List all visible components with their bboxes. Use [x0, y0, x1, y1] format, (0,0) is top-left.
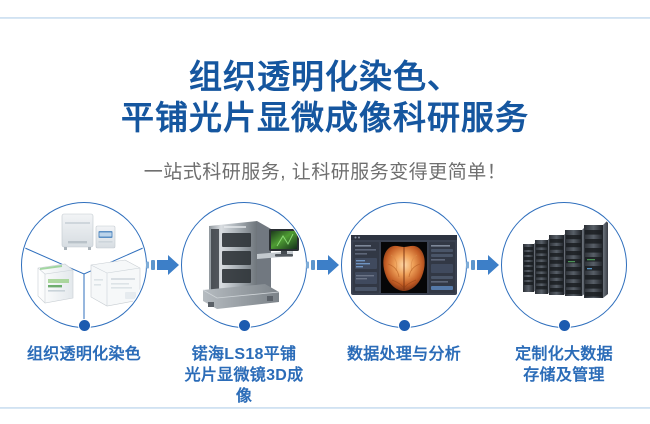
- flow-step-4-node-dot: [559, 320, 570, 331]
- top-divider: [0, 17, 650, 19]
- flow-step-1-circle: [21, 202, 147, 328]
- flow-step-1-label: 组织透明化染色: [17, 344, 151, 365]
- flow-step-2[interactable]: 锘海LS18平铺 光片显微镜3D成像: [177, 202, 311, 382]
- flow-step-1-ring: [21, 202, 147, 328]
- flow-step-3[interactable]: 数据处理与分析: [337, 202, 471, 382]
- flow-step-3-label: 数据处理与分析: [337, 344, 471, 365]
- page-title: 组织透明化染色、 平铺光片显微成像科研服务: [0, 56, 650, 138]
- flow-step-2-node-dot: [239, 320, 250, 331]
- flow-step-4-circle: [501, 202, 627, 328]
- flow-step-4[interactable]: 定制化大数据 存储及管理: [497, 202, 631, 382]
- flow-step-4-ring: [501, 202, 627, 328]
- flow-step-1[interactable]: 组织透明化染色: [17, 202, 151, 382]
- right-arrow-icon: [466, 254, 500, 276]
- process-flow: 组织透明化染色: [0, 202, 650, 382]
- flow-step-2-ring: [181, 202, 307, 328]
- promo-banner: 组织透明化染色、 平铺光片显微成像科研服务 一站式科研服务, 让科研服务变得更简…: [0, 0, 650, 424]
- right-arrow-icon: [146, 254, 180, 276]
- title-line-2: 平铺光片显微成像科研服务: [0, 97, 650, 138]
- flow-step-1-node-dot: [79, 320, 90, 331]
- flow-step-3-circle: [341, 202, 467, 328]
- page-subtitle: 一站式科研服务, 让科研服务变得更简单！: [0, 160, 650, 186]
- flow-step-2-circle: [181, 202, 307, 328]
- flow-step-4-label: 定制化大数据 存储及管理: [497, 344, 631, 386]
- title-line-1: 组织透明化染色、: [0, 56, 650, 97]
- flow-step-3-node-dot: [399, 320, 410, 331]
- flow-step-3-ring: [341, 202, 467, 328]
- flow-step-2-label: 锘海LS18平铺 光片显微镜3D成像: [177, 344, 311, 407]
- right-arrow-icon: [306, 254, 340, 276]
- bottom-divider: [0, 407, 650, 409]
